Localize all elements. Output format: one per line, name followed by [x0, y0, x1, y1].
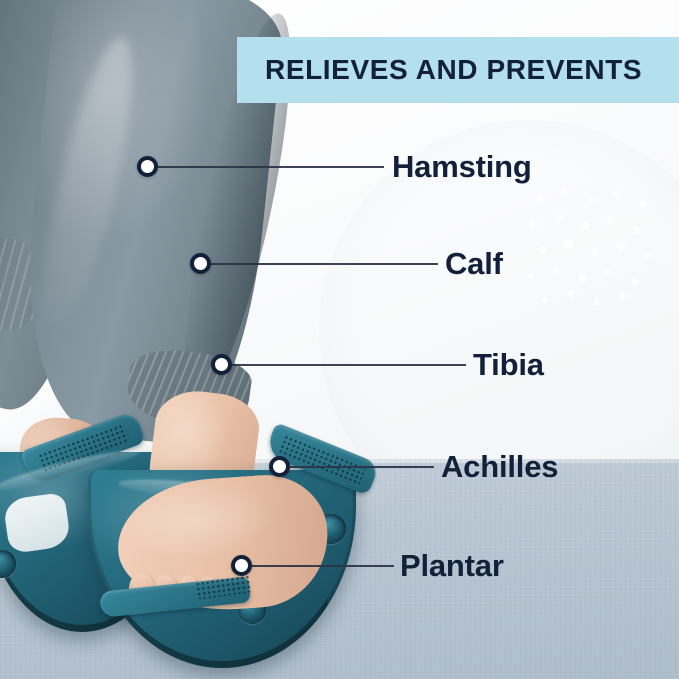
callout-label-hamsting[interactable]: Hamsting [392, 151, 532, 182]
callout-leader-calf [211, 263, 438, 265]
callout-label-achilles[interactable]: Achilles [441, 451, 558, 482]
callout-marker-achilles[interactable] [269, 456, 290, 477]
callout-label-calf[interactable]: Calf [445, 248, 503, 279]
callout-marker-calf[interactable] [190, 253, 211, 274]
callout-leader-plantar [252, 565, 394, 567]
callout-marker-plantar[interactable] [231, 555, 252, 576]
callout-leader-achilles [290, 466, 434, 468]
callout-leader-tibia [232, 364, 466, 366]
callout-leader-hamsting [158, 166, 384, 168]
callout-marker-hamsting[interactable] [137, 156, 158, 177]
callout-label-tibia[interactable]: Tibia [473, 349, 544, 380]
infographic-canvas: RELIEVES AND PREVENTS Hamsting Calf Tibi… [0, 0, 679, 679]
callout-marker-tibia[interactable] [211, 354, 232, 375]
callout-label-plantar[interactable]: Plantar [400, 550, 504, 581]
callout-group: Hamsting Calf Tibia Achilles Plantar [0, 0, 679, 679]
